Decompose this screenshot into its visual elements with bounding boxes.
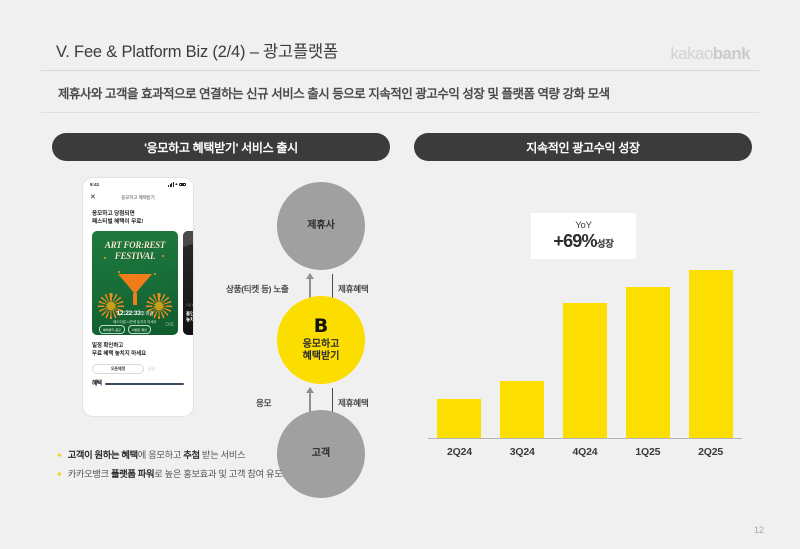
chart-bar-column <box>554 264 616 438</box>
diagram-circle-service: B 응모하고 혜택받기 <box>277 296 365 384</box>
next-poster-card[interactable]: 지금 바로 올인원 놓치지 <box>183 231 194 335</box>
next-card-text: 올인원 놓치지 <box>186 311 194 323</box>
diagram-customer-label: 고객 <box>312 448 330 461</box>
phone-bottom-row: 혜택 <box>83 374 193 387</box>
phone-navbar: ✕ 응모하고 혜택받기 <box>83 191 193 204</box>
cup-stem-icon <box>133 293 137 305</box>
phone-bottom-glyph: 혜택 <box>92 378 101 387</box>
chart-bar-column <box>617 264 679 438</box>
next-card-subtext: 지금 바로 <box>186 303 194 307</box>
countdown-unit: 후 마감 <box>141 311 154 316</box>
poster-chip-group: 혜택받기 응모 이벤트 확인 <box>99 325 151 334</box>
phone-home-indicator <box>105 383 184 385</box>
chart-bar-column <box>428 264 490 438</box>
poster-chip-2[interactable]: 이벤트 확인 <box>128 325 151 334</box>
poster-sweep-shape <box>183 231 194 248</box>
chart-tick-2Q25: 2Q25 <box>680 446 742 458</box>
phone-footline-2: 무료 혜택 놓치지 마세요 <box>92 350 184 358</box>
poster-watermark: OIE <box>165 322 174 328</box>
yoy-label: YoY <box>575 220 591 231</box>
phone-primary-button[interactable]: 오픈예정 <box>92 364 144 374</box>
yoy-callout: YoY +69%성장 <box>531 213 636 259</box>
kakaobank-b-icon: B <box>314 317 328 336</box>
yoy-percent: +69% <box>553 231 596 251</box>
chart-bar-column <box>680 264 742 438</box>
chart-bar-column <box>491 264 553 438</box>
phone-card-carousel[interactable]: ART FOR:REST FESTIVAL 12:22:33후 마감 페스티벌 … <box>83 231 193 335</box>
subtitle-divider <box>41 112 759 113</box>
diagram-circle-partner: 제휴사 <box>277 182 365 270</box>
slide-root: V. Fee & Platform Biz (2/4) – 광고플랫폼 kaka… <box>0 0 800 549</box>
chart-x-tick-labels: 2Q243Q244Q241Q252Q25 <box>428 443 742 461</box>
page-subtitle: 제휴사와 고객을 효과적으로 연결하는 신규 서비스 출시 등으로 지속적인 광… <box>58 84 610 102</box>
poster-countdown: 12:22:33후 마감 <box>92 310 178 317</box>
diagram-label-top-right: 제휴혜택 <box>338 283 368 295</box>
chart-bar-2Q25 <box>689 270 733 437</box>
diagram-service-line1: 응모하고 <box>303 339 340 352</box>
chart-tick-4Q24: 4Q24 <box>554 446 616 458</box>
diagram-label-top-left: 상품(티켓 등) 노출 <box>226 283 289 295</box>
header-divider <box>41 70 759 71</box>
diagram-service-line2: 혜택받기 <box>303 351 340 364</box>
chart-bar-3Q24 <box>500 381 544 437</box>
page-number: 12 <box>754 525 764 535</box>
phone-headline-line1: 응모하고 당첨되면 <box>92 210 184 218</box>
poster-dot-icon <box>118 271 120 273</box>
phone-nav-title: 응모하고 혜택받기 <box>83 195 193 201</box>
logo-bank-text: bank <box>713 44 750 63</box>
ad-revenue-chart: YoY +69%성장 2Q243Q244Q241Q252Q25 <box>420 190 752 490</box>
bullet-list: ✦ 고객이 원하는 혜택에 응모하고 추첨 받는 서비스 ✦ 카카오뱅크 플랫폼… <box>56 448 291 486</box>
phone-footline-1: 일정 확인하고 <box>92 342 184 350</box>
bullet-text-1: 고객이 원하는 혜택에 응모하고 추첨 받는 서비스 <box>68 448 245 462</box>
chart-plot-area: 2Q243Q244Q241Q252Q25 <box>428 265 742 465</box>
section-header-left: '응모하고 혜택받기' 서비스 출시 <box>52 133 390 161</box>
chart-tick-3Q24: 3Q24 <box>491 446 553 458</box>
page-title: V. Fee & Platform Biz (2/4) – 광고플랫폼 <box>56 38 338 62</box>
festival-poster-card[interactable]: ART FOR:REST FESTIVAL 12:22:33후 마감 페스티벌 … <box>92 231 178 335</box>
chart-bar-2Q24 <box>437 399 481 438</box>
chart-x-axis <box>428 438 742 440</box>
countdown-value: 12:22:33 <box>117 310 141 317</box>
yoy-value: +69%성장 <box>553 231 613 252</box>
phone-button-row: 오픈예정 공유 <box>83 358 193 374</box>
chart-tick-2Q24: 2Q24 <box>428 446 490 458</box>
diamond-bullet-icon: ✦ <box>56 467 63 482</box>
chart-bars <box>428 264 742 438</box>
diagram-partner-label: 제휴사 <box>307 220 335 233</box>
cellular-signal-icon <box>168 182 174 187</box>
list-item: ✦ 카카오뱅크 플랫폼 파워로 높은 홍보효과 및 고객 참여 유도 <box>56 467 291 482</box>
poster-title: ART FOR:REST FESTIVAL <box>92 240 178 263</box>
status-indicators: ▴ <box>168 182 186 187</box>
chart-tick-1Q25: 1Q25 <box>617 446 679 458</box>
section-header-right: 지속적인 광고수익 성장 <box>414 133 752 161</box>
phone-headline-line2: 페스티벌 혜택이 무료! <box>92 218 184 226</box>
status-time: 9:41 <box>90 182 99 187</box>
phone-status-bar: 9:41 ▴ <box>83 178 193 191</box>
next-card-line2: 놓치지 <box>186 317 194 323</box>
poster-dot-icon <box>154 273 156 275</box>
diamond-bullet-icon: ✦ <box>56 448 63 463</box>
diagram-label-bottom-right: 제휴혜택 <box>338 397 368 409</box>
kakaobank-logo: kakaobank <box>670 44 750 64</box>
poster-chip-1[interactable]: 혜택받기 응모 <box>99 325 125 334</box>
phone-footline: 일정 확인하고 무료 혜택 놓치지 마세요 <box>83 335 193 358</box>
phone-headline: 응모하고 당첨되면 페스티벌 혜택이 무료! <box>83 204 193 231</box>
chart-bar-1Q25 <box>626 287 670 438</box>
phone-ghost-button[interactable]: 공유 <box>148 366 155 372</box>
poster-title-line1: ART FOR:REST <box>92 240 178 251</box>
logo-kakao-text: kakao <box>670 44 712 63</box>
wifi-icon: ▴ <box>175 182 177 187</box>
battery-icon <box>179 183 186 187</box>
cup-shape-icon <box>118 274 152 294</box>
list-item: ✦ 고객이 원하는 혜택에 응모하고 추첨 받는 서비스 <box>56 448 291 463</box>
bullet-text-2: 카카오뱅크 플랫폼 파워로 높은 홍보효과 및 고객 참여 유도 <box>68 467 283 481</box>
chart-bar-4Q24 <box>563 303 607 437</box>
diagram-label-bottom-left: 응모 <box>256 397 271 409</box>
yoy-suffix: 성장 <box>597 239 614 250</box>
phone-mockup: 9:41 ▴ ✕ 응모하고 혜택받기 응모하고 당첨되면 페스티벌 혜택이 무료… <box>82 177 194 417</box>
